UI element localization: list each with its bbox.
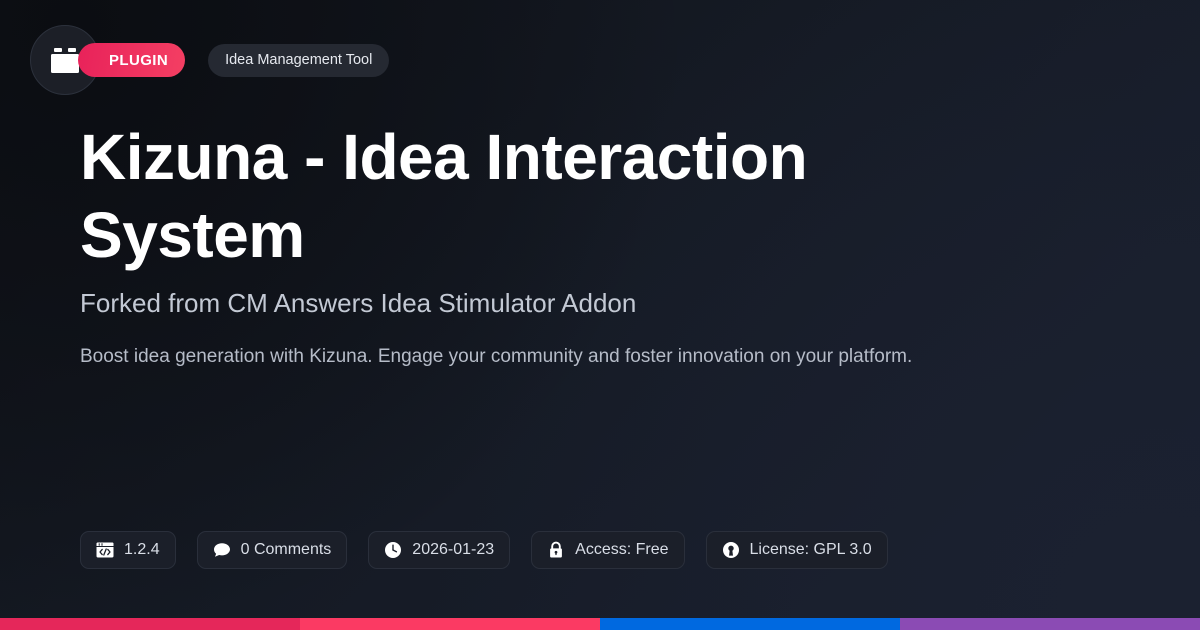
meta-chip-version: 1.2.4 — [80, 531, 176, 569]
code-window-icon — [96, 541, 114, 559]
accent-bar — [0, 618, 1200, 630]
accent-segment-3 — [600, 618, 900, 630]
comment-icon — [213, 541, 231, 559]
page-title: Kizuna - Idea Interaction System — [80, 118, 980, 274]
meta-chip-label: Access: Free — [575, 541, 668, 559]
open-source-icon — [722, 541, 740, 559]
accent-segment-4 — [900, 618, 1200, 630]
meta-chip-date: 2026-01-23 — [368, 531, 510, 569]
meta-chip-label: 1.2.4 — [124, 541, 160, 559]
plugin-badge-label: PLUGIN — [109, 52, 168, 69]
social-preview-card: PLUGIN Idea Management Tool Kizuna - Ide… — [0, 0, 1200, 630]
category-chip-label: Idea Management Tool — [225, 52, 372, 68]
meta-chip-access: Access: Free — [531, 531, 684, 569]
meta-chip-label: 0 Comments — [241, 541, 332, 559]
accent-segment-2 — [300, 618, 600, 630]
meta-chip-comments: 0 Comments — [197, 531, 348, 569]
lock-icon — [547, 541, 565, 559]
clock-icon — [384, 541, 402, 559]
meta-chip-label: License: GPL 3.0 — [750, 541, 872, 559]
meta-chip-label: 2026-01-23 — [412, 541, 494, 559]
briefcase-icon — [48, 45, 82, 75]
header-row: PLUGIN Idea Management Tool — [30, 24, 389, 96]
plugin-badge: PLUGIN — [78, 43, 185, 77]
accent-segment-1 — [0, 618, 300, 630]
meta-chip-license: License: GPL 3.0 — [706, 531, 888, 569]
meta-row: 1.2.4 0 Comments 2026-01-23 — [80, 531, 888, 569]
category-chip[interactable]: Idea Management Tool — [208, 44, 389, 77]
page-subtitle: Forked from CM Answers Idea Stimulator A… — [80, 286, 636, 320]
page-description: Boost idea generation with Kizuna. Engag… — [80, 340, 1020, 373]
